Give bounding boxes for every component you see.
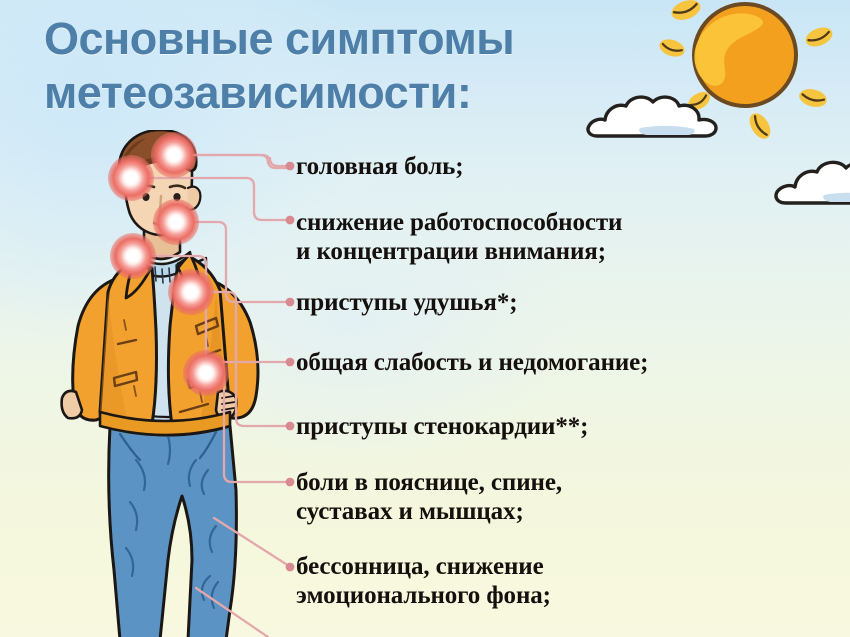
glow-dot-head-top <box>151 132 197 178</box>
glow-dot-throat <box>153 199 199 245</box>
endpoint-dot-2 <box>286 216 295 225</box>
symptom-text: приступы удушья*; <box>296 288 517 317</box>
symptom-text: снижение работоспособности и концентраци… <box>296 208 622 266</box>
connector-7 <box>214 518 289 566</box>
symptom-text: общая слабость и недомогание; <box>296 348 648 377</box>
infographic-poster: Основные симптомы метеозависимости: голо… <box>0 0 850 637</box>
glow-dot-shoulder <box>110 233 156 279</box>
page-title-line-2: метеозависимости: <box>44 66 644 120</box>
connector-endpoints <box>286 162 295 572</box>
list-item: приступы удушья*; <box>296 288 517 317</box>
list-item: бессонница, снижение эмоционального фона… <box>296 552 551 610</box>
endpoint-dot-1 <box>286 162 295 171</box>
glow-dot-temple <box>108 155 154 201</box>
glow-dot-chest <box>168 269 214 315</box>
page-title-line-1: Основные симптомы <box>44 12 644 66</box>
endpoint-dot-3 <box>286 298 295 307</box>
glow-dot-lower-abdomen <box>183 350 229 396</box>
endpoint-dot-5 <box>286 422 295 431</box>
symptom-text: боли в пояснице, спине, суставах и мышца… <box>296 468 562 526</box>
endpoint-dot-7 <box>286 563 295 572</box>
list-item: приступы стенокардии**; <box>296 412 588 441</box>
symptom-text: бессонница, снижение эмоционального фона… <box>296 552 551 610</box>
endpoint-dot-6 <box>286 478 295 487</box>
endpoint-dot-4 <box>286 358 295 367</box>
page-title: Основные симптомы метеозависимости: <box>44 12 644 120</box>
symptom-text: головная боль; <box>296 152 464 181</box>
list-item: боли в пояснице, спине, суставах и мышца… <box>296 468 562 526</box>
connector-4 <box>133 256 289 362</box>
list-item: общая слабость и недомогание; <box>296 348 648 377</box>
connector-8-offscreen <box>196 588 268 637</box>
list-item: снижение работоспособности и концентраци… <box>296 208 622 266</box>
symptom-text: приступы стенокардии**; <box>296 412 588 441</box>
list-item: головная боль; <box>296 152 464 181</box>
